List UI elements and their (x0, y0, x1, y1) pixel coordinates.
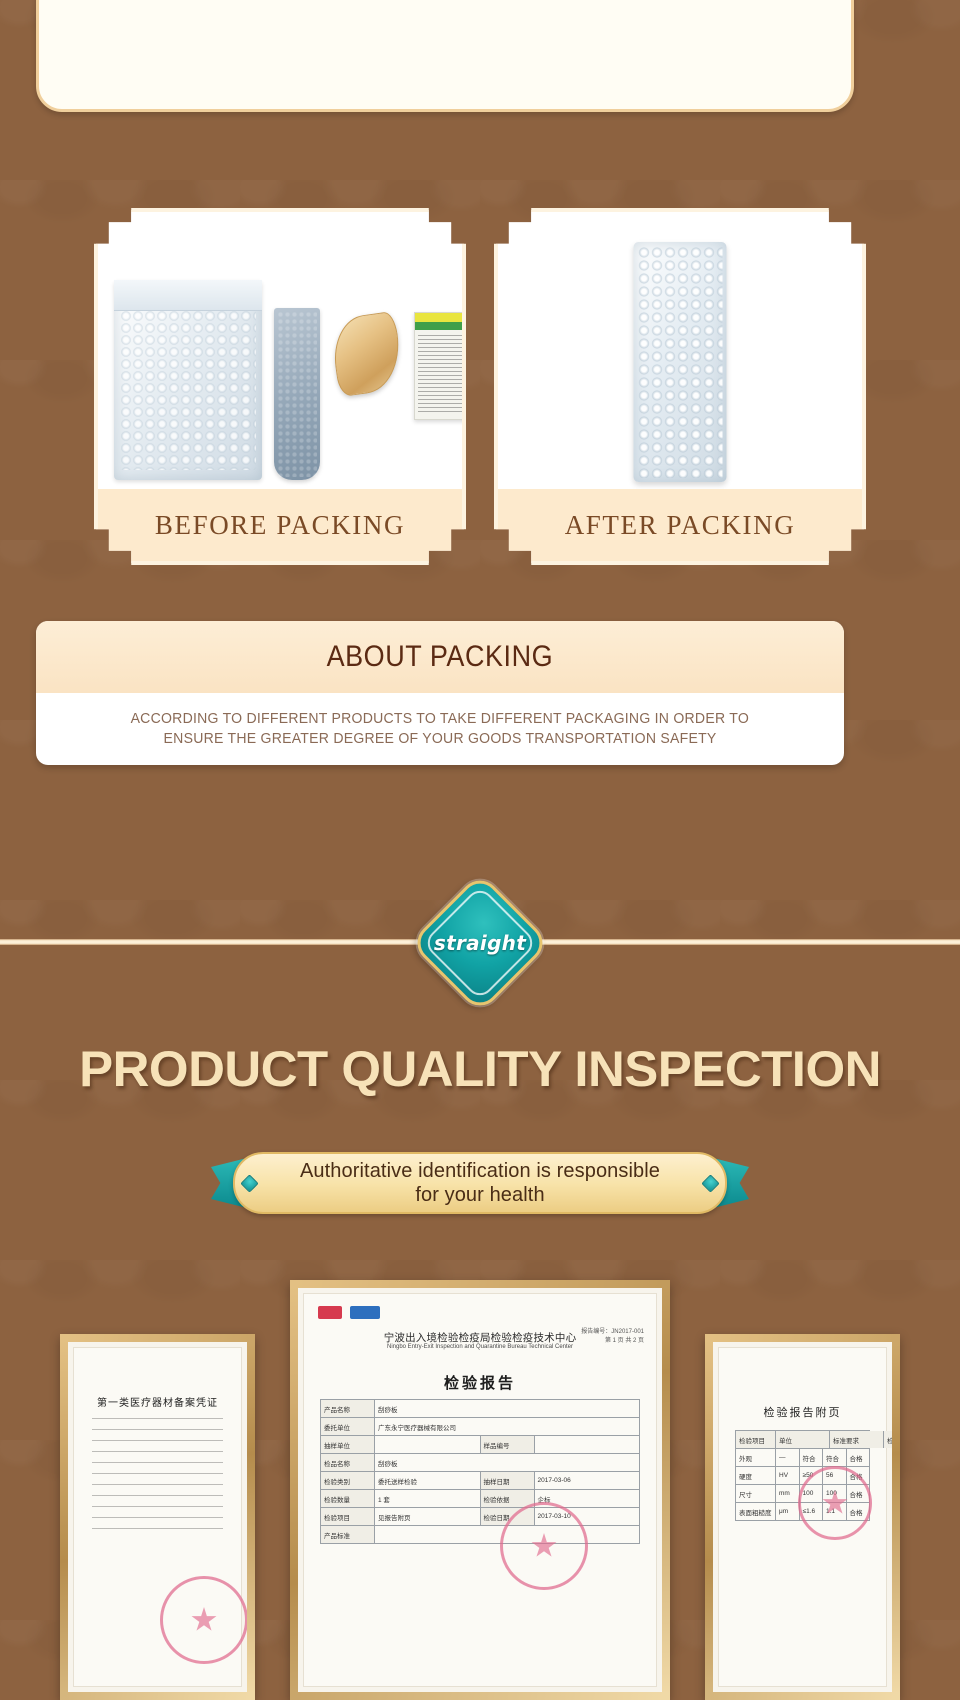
certificate-right-stamp-icon (798, 1466, 872, 1540)
cnas-logo-icon (350, 1306, 380, 1319)
table-row: 抽样单位 样品编号 (320, 1435, 640, 1453)
table-row: 产品标准 (320, 1525, 640, 1544)
packing-cards-row: BEFORE PACKING AFTER PACKING (0, 208, 960, 565)
cell: 符合 (800, 1449, 824, 1466)
about-packing-line-1: ACCORDING TO DIFFERENT PRODUCTS TO TAKE … (131, 711, 749, 727)
spec-panel: long:100mm (36, 0, 854, 112)
ciq-logo-icon (318, 1306, 342, 1319)
certificate-center-inner: 报告编号：JN2017-001 第 1 页 共 2 页 宁波出入境检验检疫局检验… (303, 1293, 657, 1687)
column-header: 检验项目 (736, 1431, 776, 1448)
about-packing-title: ABOUT PACKING (327, 640, 554, 674)
certificate-right: 检验报告附页 检验项目 单位 标准要求 检验结果 单项判定 外观 — 符合 符合 (705, 1334, 900, 1700)
after-packing-label: AFTER PACKING (498, 489, 862, 561)
table-row: 委托单位 广东永宁医疗器械有限公司 (320, 1417, 640, 1435)
column-header: 单位 (776, 1431, 830, 1448)
certificate-left-stamp-icon (160, 1576, 248, 1664)
column-header: 检验结果 (884, 1431, 900, 1448)
cell-value-2: 2017-03-06 (535, 1472, 641, 1489)
certificate-right-title: 检验报告附页 (719, 1404, 886, 1420)
certificate-org-cn: 宁波出入境检验检疫局检验检疫技术中心 (304, 1330, 656, 1345)
certificates-group: 第一类医疗器材备案凭证 报告编号：JN2017-001 第 1 页 共 2 页 … (0, 1275, 960, 1700)
cell-key: 检品名称 (321, 1454, 375, 1471)
ribbon-text-line-1: Authoritative identification is responsi… (300, 1160, 660, 1182)
certificate-center-title: 检验报告 (304, 1372, 656, 1393)
certificate-logo-row (318, 1306, 380, 1319)
ribbon-text-line-2: for your health (415, 1184, 544, 1206)
about-packing-header: ABOUT PACKING (36, 621, 844, 693)
certificate-center-stamp-icon (500, 1502, 588, 1590)
felt-pouch-graphic (274, 308, 320, 480)
cell-key-2: 抽样日期 (481, 1472, 535, 1489)
cell: 表面粗糙度 (736, 1503, 776, 1520)
certificate-left-inner: 第一类医疗器材备案凭证 (73, 1347, 242, 1687)
cell-key: 抽样单位 (321, 1436, 375, 1453)
table-row: 检验类别 委托送样检验 抽样日期 2017-03-06 (320, 1471, 640, 1489)
cell-key: 检验项目 (321, 1508, 375, 1525)
leaflet-text-lines (418, 335, 466, 415)
cell-value: 广东永宁医疗器械有限公司 (375, 1418, 640, 1435)
cell-value (375, 1436, 481, 1453)
cell: HV (776, 1467, 800, 1484)
table-row: 产品名称 刮痧板 (320, 1399, 640, 1417)
leaflet-green-band (415, 322, 466, 330)
after-packing-photo (498, 212, 862, 497)
cell-value: 委托送样检验 (375, 1472, 481, 1489)
certificate-right-inner: 检验报告附页 检验项目 单位 标准要求 检验结果 单项判定 外观 — 符合 符合 (718, 1347, 887, 1687)
ribbon-text: Authoritative identification is responsi… (270, 1159, 690, 1208)
after-packing-card: AFTER PACKING (494, 208, 866, 565)
brand-badge-label: straight (430, 893, 530, 993)
ribbon-plate: Authoritative identification is responsi… (233, 1152, 727, 1214)
cell-value: 见报告附页 (375, 1508, 481, 1525)
cell-value: 刮痧板 (375, 1454, 640, 1471)
leaflet-yellow-band (415, 313, 466, 322)
cell-key: 委托单位 (321, 1418, 375, 1435)
before-packing-label: BEFORE PACKING (98, 489, 462, 561)
table-header-row: 检验项目 单位 标准要求 检验结果 单项判定 (735, 1430, 870, 1448)
cell-key: 检验类别 (321, 1472, 375, 1489)
cell-key: 产品名称 (321, 1400, 375, 1417)
product-detail-page: long:100mm BEFORE PACKING AFTER PACKING (0, 0, 960, 1700)
cell: 外观 (736, 1449, 776, 1466)
certificate-center-table: 产品名称 刮痧板 委托单位 广东永宁医疗器械有限公司 抽样单位 样品编号 (320, 1399, 640, 1544)
certificate-left: 第一类医疗器材备案凭证 (60, 1334, 255, 1700)
table-row: 外观 — 符合 符合 合格 (735, 1448, 870, 1466)
cell-key: 检验数量 (321, 1490, 375, 1507)
table-row: 检验项目 见报告附页 检验日期 2017-03-10 (320, 1507, 640, 1525)
before-packing-card: BEFORE PACKING (94, 208, 466, 565)
cell: mm (776, 1485, 800, 1502)
certificate-left-body-lines (92, 1418, 223, 1538)
brand-badge: straight (430, 893, 530, 993)
inspection-ribbon-banner: Authoritative identification is responsi… (211, 1152, 749, 1214)
spec-text: long:100mm (374, 0, 517, 109)
bubble-mailer-graphic (114, 280, 262, 480)
cell: 硬度 (736, 1467, 776, 1484)
table-row: 检验数量 1 套 检验依据 企标 (320, 1489, 640, 1507)
inspection-section-title: PRODUCT QUALITY INSPECTION (0, 1040, 960, 1098)
cell: μm (776, 1503, 800, 1520)
certificate-center: 报告编号：JN2017-001 第 1 页 共 2 页 宁波出入境检验检疫局检验… (290, 1280, 670, 1700)
cell-value: 1 套 (375, 1490, 481, 1507)
about-packing-panel: ABOUT PACKING ACCORDING TO DIFFERENT PRO… (36, 621, 844, 765)
about-packing-body: ACCORDING TO DIFFERENT PRODUCTS TO TAKE … (36, 693, 844, 765)
certificate-org-en: Ningbo Entry-Exit Inspection and Quarant… (304, 1344, 656, 1350)
guasha-tool-graphic (329, 311, 405, 397)
table-row: 检品名称 刮痧板 (320, 1453, 640, 1471)
cell-key-2: 样品编号 (481, 1436, 535, 1453)
before-packing-photo (98, 212, 462, 497)
sealed-package-graphic (634, 242, 727, 482)
cell: — (776, 1449, 800, 1466)
cell-value-2 (535, 1436, 641, 1453)
about-packing-line-2: ENSURE THE GREATER DEGREE OF YOUR GOODS … (163, 731, 716, 747)
cell: 尺寸 (736, 1485, 776, 1502)
cell: 合格 (847, 1449, 871, 1466)
instruction-leaflet-graphic (414, 312, 466, 420)
column-header: 标准要求 (830, 1431, 884, 1448)
cell: 符合 (823, 1449, 847, 1466)
cell-key: 产品标准 (321, 1526, 375, 1543)
cell-value: 刮痧板 (375, 1400, 640, 1417)
certificate-left-title: 第一类医疗器材备案凭证 (74, 1394, 241, 1409)
